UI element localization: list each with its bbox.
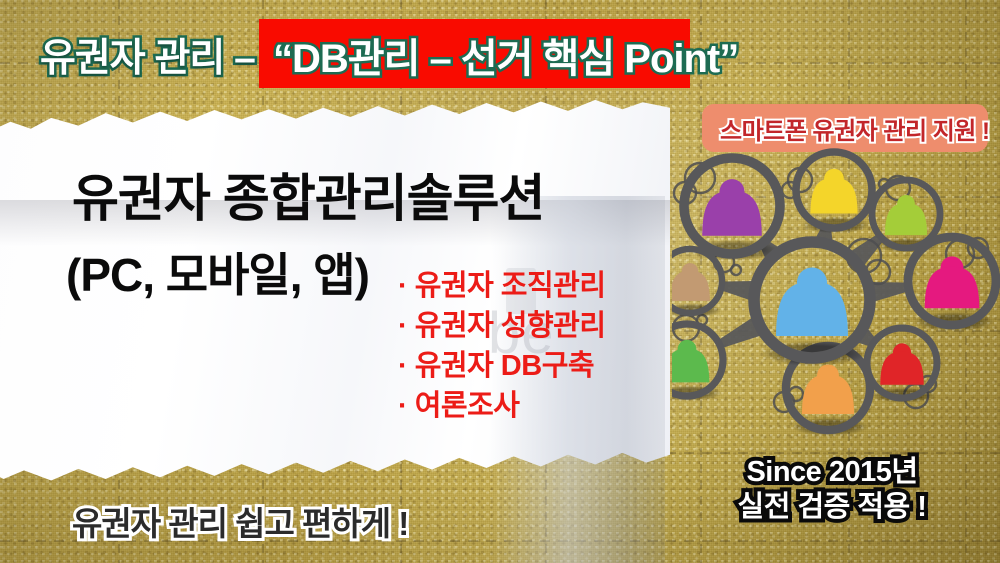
since-badge: Since 2015년 실전 검증 적용 ! — [722, 455, 942, 526]
status-badge-label: 스마트폰 유권자 관리 지원 ! — [720, 111, 990, 146]
page-title: 유권자 종합관리솔루션 — [72, 170, 592, 228]
node-yellow — [796, 152, 872, 233]
top-title-plain: 유권자 관리 – — [40, 27, 255, 83]
since-badge-line1: Since 2015년 — [722, 455, 942, 490]
node-purple — [684, 158, 780, 261]
node-magenta — [908, 237, 996, 331]
list-item: · 유권자 조직관리 — [398, 266, 606, 306]
feature-list: · 유권자 조직관리 · 유권자 성향관리 · 유권자 DB구축 · 여론조사 — [398, 266, 606, 426]
bottom-tagline: 유권자 관리 쉽고 편하게 ! — [72, 497, 408, 545]
list-item: · 유권자 성향관리 — [398, 306, 606, 346]
node-red — [867, 328, 937, 403]
top-title-highlight-banner: “DB관리 – 선거 핵심 Point” — [259, 19, 690, 88]
node-tan — [672, 249, 722, 317]
list-item: · 여론조사 — [398, 386, 606, 426]
center-node — [754, 242, 870, 366]
people-network-diagram — [672, 148, 1000, 448]
network-nodes — [672, 152, 996, 436]
status-badge-smartphone: 스마트폰 유권자 관리 지원 ! — [702, 104, 988, 152]
poster-canvas: be 유권자 종합관리솔루션 (PC, 모바일, 앱) · 유권자 조직관리 ·… — [0, 0, 1000, 563]
top-title-highlight-label: “DB관리 – 선거 핵심 Point” — [273, 26, 738, 84]
list-item: · 유권자 DB구축 — [398, 346, 606, 386]
since-badge-line2: 실전 검증 적용 ! — [722, 490, 942, 525]
